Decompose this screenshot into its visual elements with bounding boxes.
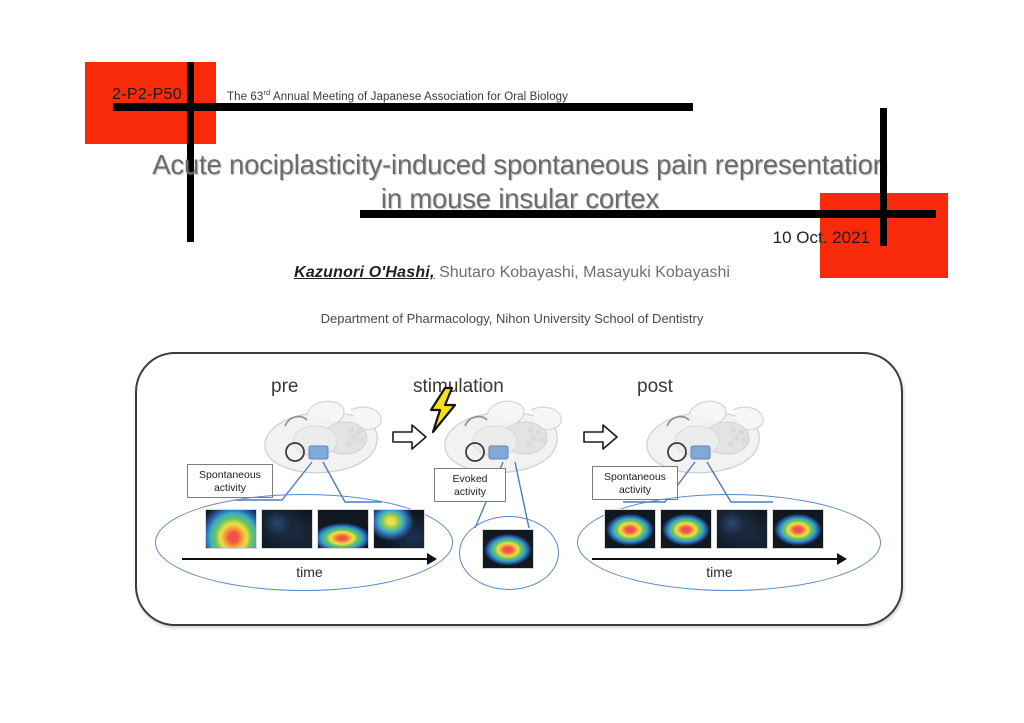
lightning-bolt-icon: [425, 386, 461, 434]
meeting-name-label: The 63rd Annual Meeting of Japanese Asso…: [227, 88, 747, 103]
heatmap-frame: [482, 529, 534, 569]
callout-line-2: activity: [441, 486, 499, 499]
heatmap-frame: [716, 509, 768, 549]
heatmap-strip-post: [604, 509, 824, 549]
lead-author: Kazunori O'Hashi,: [294, 264, 435, 281]
title-vertical-rule: [880, 108, 887, 246]
callout-spontaneous-activity-post: Spontaneous activity: [592, 466, 678, 500]
header-horizontal-rule: [113, 103, 693, 111]
date-day-month: 10 Oct.: [773, 228, 828, 247]
heatmap-strip-stimulation: [482, 529, 534, 569]
heatmap-frame: [261, 509, 313, 549]
poster-slide: 2-P2-P50 The 63rd Annual Meeting of Japa…: [0, 0, 1024, 723]
heatmap-frame: [772, 509, 824, 549]
callout-line-2: activity: [599, 484, 671, 497]
time-axis-label-post: time: [592, 564, 847, 580]
author-list: Kazunori O'Hashi, Shutaro Kobayashi, Mas…: [162, 264, 862, 282]
presentation-date: 10 Oct. 2021: [600, 228, 870, 248]
stage-label-pre: pre: [271, 376, 298, 398]
meeting-name-suffix: Annual Meeting of Japanese Association f…: [270, 91, 568, 103]
affiliation-label: Department of Pharmacology, Nihon Univer…: [162, 311, 862, 326]
callout-line-1: Evoked: [441, 473, 499, 486]
heatmap-frame: [205, 509, 257, 549]
callout-line-1: Spontaneous: [194, 469, 266, 482]
right-arrow-icon: [583, 422, 619, 452]
title-horizontal-rule: [360, 210, 936, 218]
abstract-id-label: 2-P2-P50: [112, 86, 222, 104]
page-title: Acute nociplasticity-induced spontaneous…: [120, 148, 920, 215]
heatmap-frame: [373, 509, 425, 549]
co-authors: Shutaro Kobayashi, Masayuki Kobayashi: [435, 264, 730, 281]
callout-line-2: activity: [194, 482, 266, 495]
title-line-1: Acute nociplasticity-induced spontaneous…: [120, 148, 920, 182]
heatmap-frame: [604, 509, 656, 549]
heatmap-frame: [660, 509, 712, 549]
time-axis-label-pre: time: [182, 564, 437, 580]
figure-panel: pre stimulation post: [135, 352, 903, 626]
heatmap-strip-pre: [205, 509, 425, 549]
right-arrow-icon: [392, 422, 428, 452]
meeting-name-prefix: The 63: [227, 91, 263, 103]
callout-line-1: Spontaneous: [599, 471, 671, 484]
date-year: 2021: [832, 228, 870, 247]
callout-evoked-activity: Evoked activity: [434, 468, 506, 502]
heatmap-frame: [317, 509, 369, 549]
callout-spontaneous-activity-pre: Spontaneous activity: [187, 464, 273, 498]
stage-label-post: post: [637, 376, 673, 398]
